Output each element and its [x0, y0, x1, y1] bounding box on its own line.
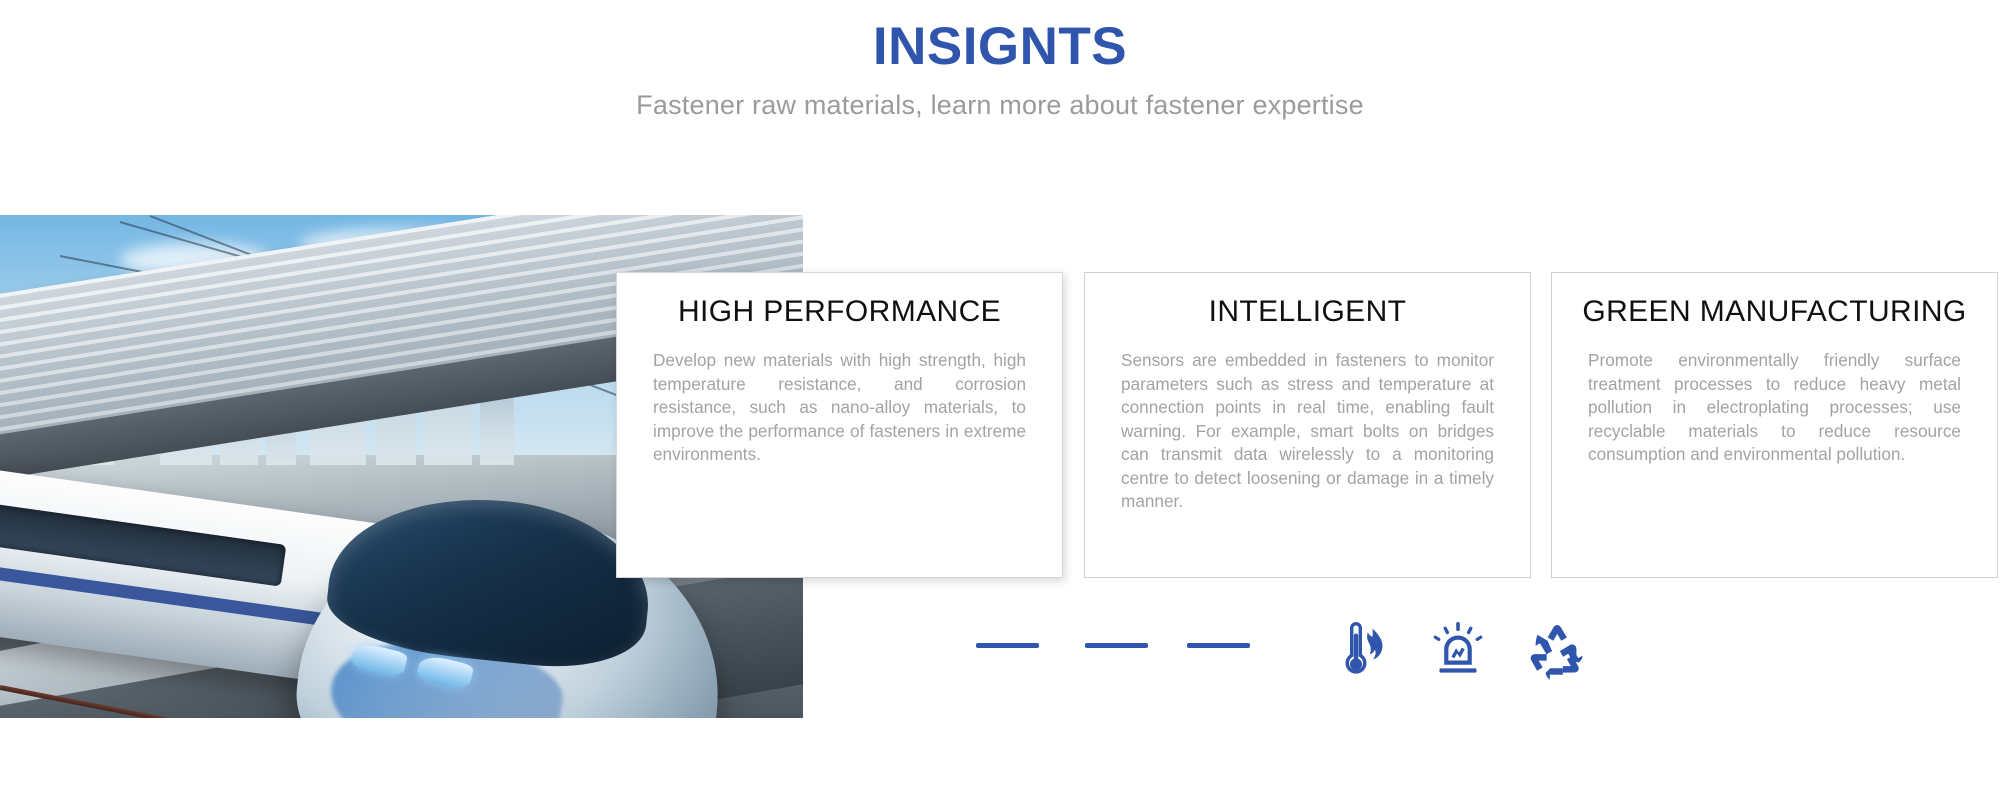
card-body: Promote environmentally friendly surface… [1552, 329, 1997, 467]
insight-card-green-manufacturing[interactable]: GREEN MANUFACTURING Promote environmenta… [1551, 272, 1998, 578]
card-body: Develop new materials with high strength… [617, 329, 1062, 467]
alarm-signal-icon [1428, 620, 1488, 684]
recycle-icon [1526, 620, 1586, 684]
insight-card-intelligent[interactable]: INTELLIGENT Sensors are embedded in fast… [1084, 272, 1531, 578]
page-subtitle: Fastener raw materials, learn more about… [0, 76, 2000, 121]
divider-dash-2 [1085, 643, 1148, 648]
insight-card-high-performance[interactable]: HIGH PERFORMANCE Develop new materials w… [616, 272, 1063, 578]
page-title: INSIGNTS [0, 0, 2000, 76]
card-title: HIGH PERFORMANCE [617, 273, 1062, 329]
card-title: GREEN MANUFACTURING [1552, 273, 1997, 329]
bottom-icon-strip [960, 620, 1660, 710]
divider-dash-3 [1187, 643, 1250, 648]
card-title: INTELLIGENT [1085, 273, 1530, 329]
card-body: Sensors are embedded in fasteners to mon… [1085, 329, 1530, 514]
divider-dash-1 [976, 643, 1039, 648]
page-header: INSIGNTS Fastener raw materials, learn m… [0, 0, 2000, 121]
thermometer-flame-icon [1332, 620, 1392, 684]
